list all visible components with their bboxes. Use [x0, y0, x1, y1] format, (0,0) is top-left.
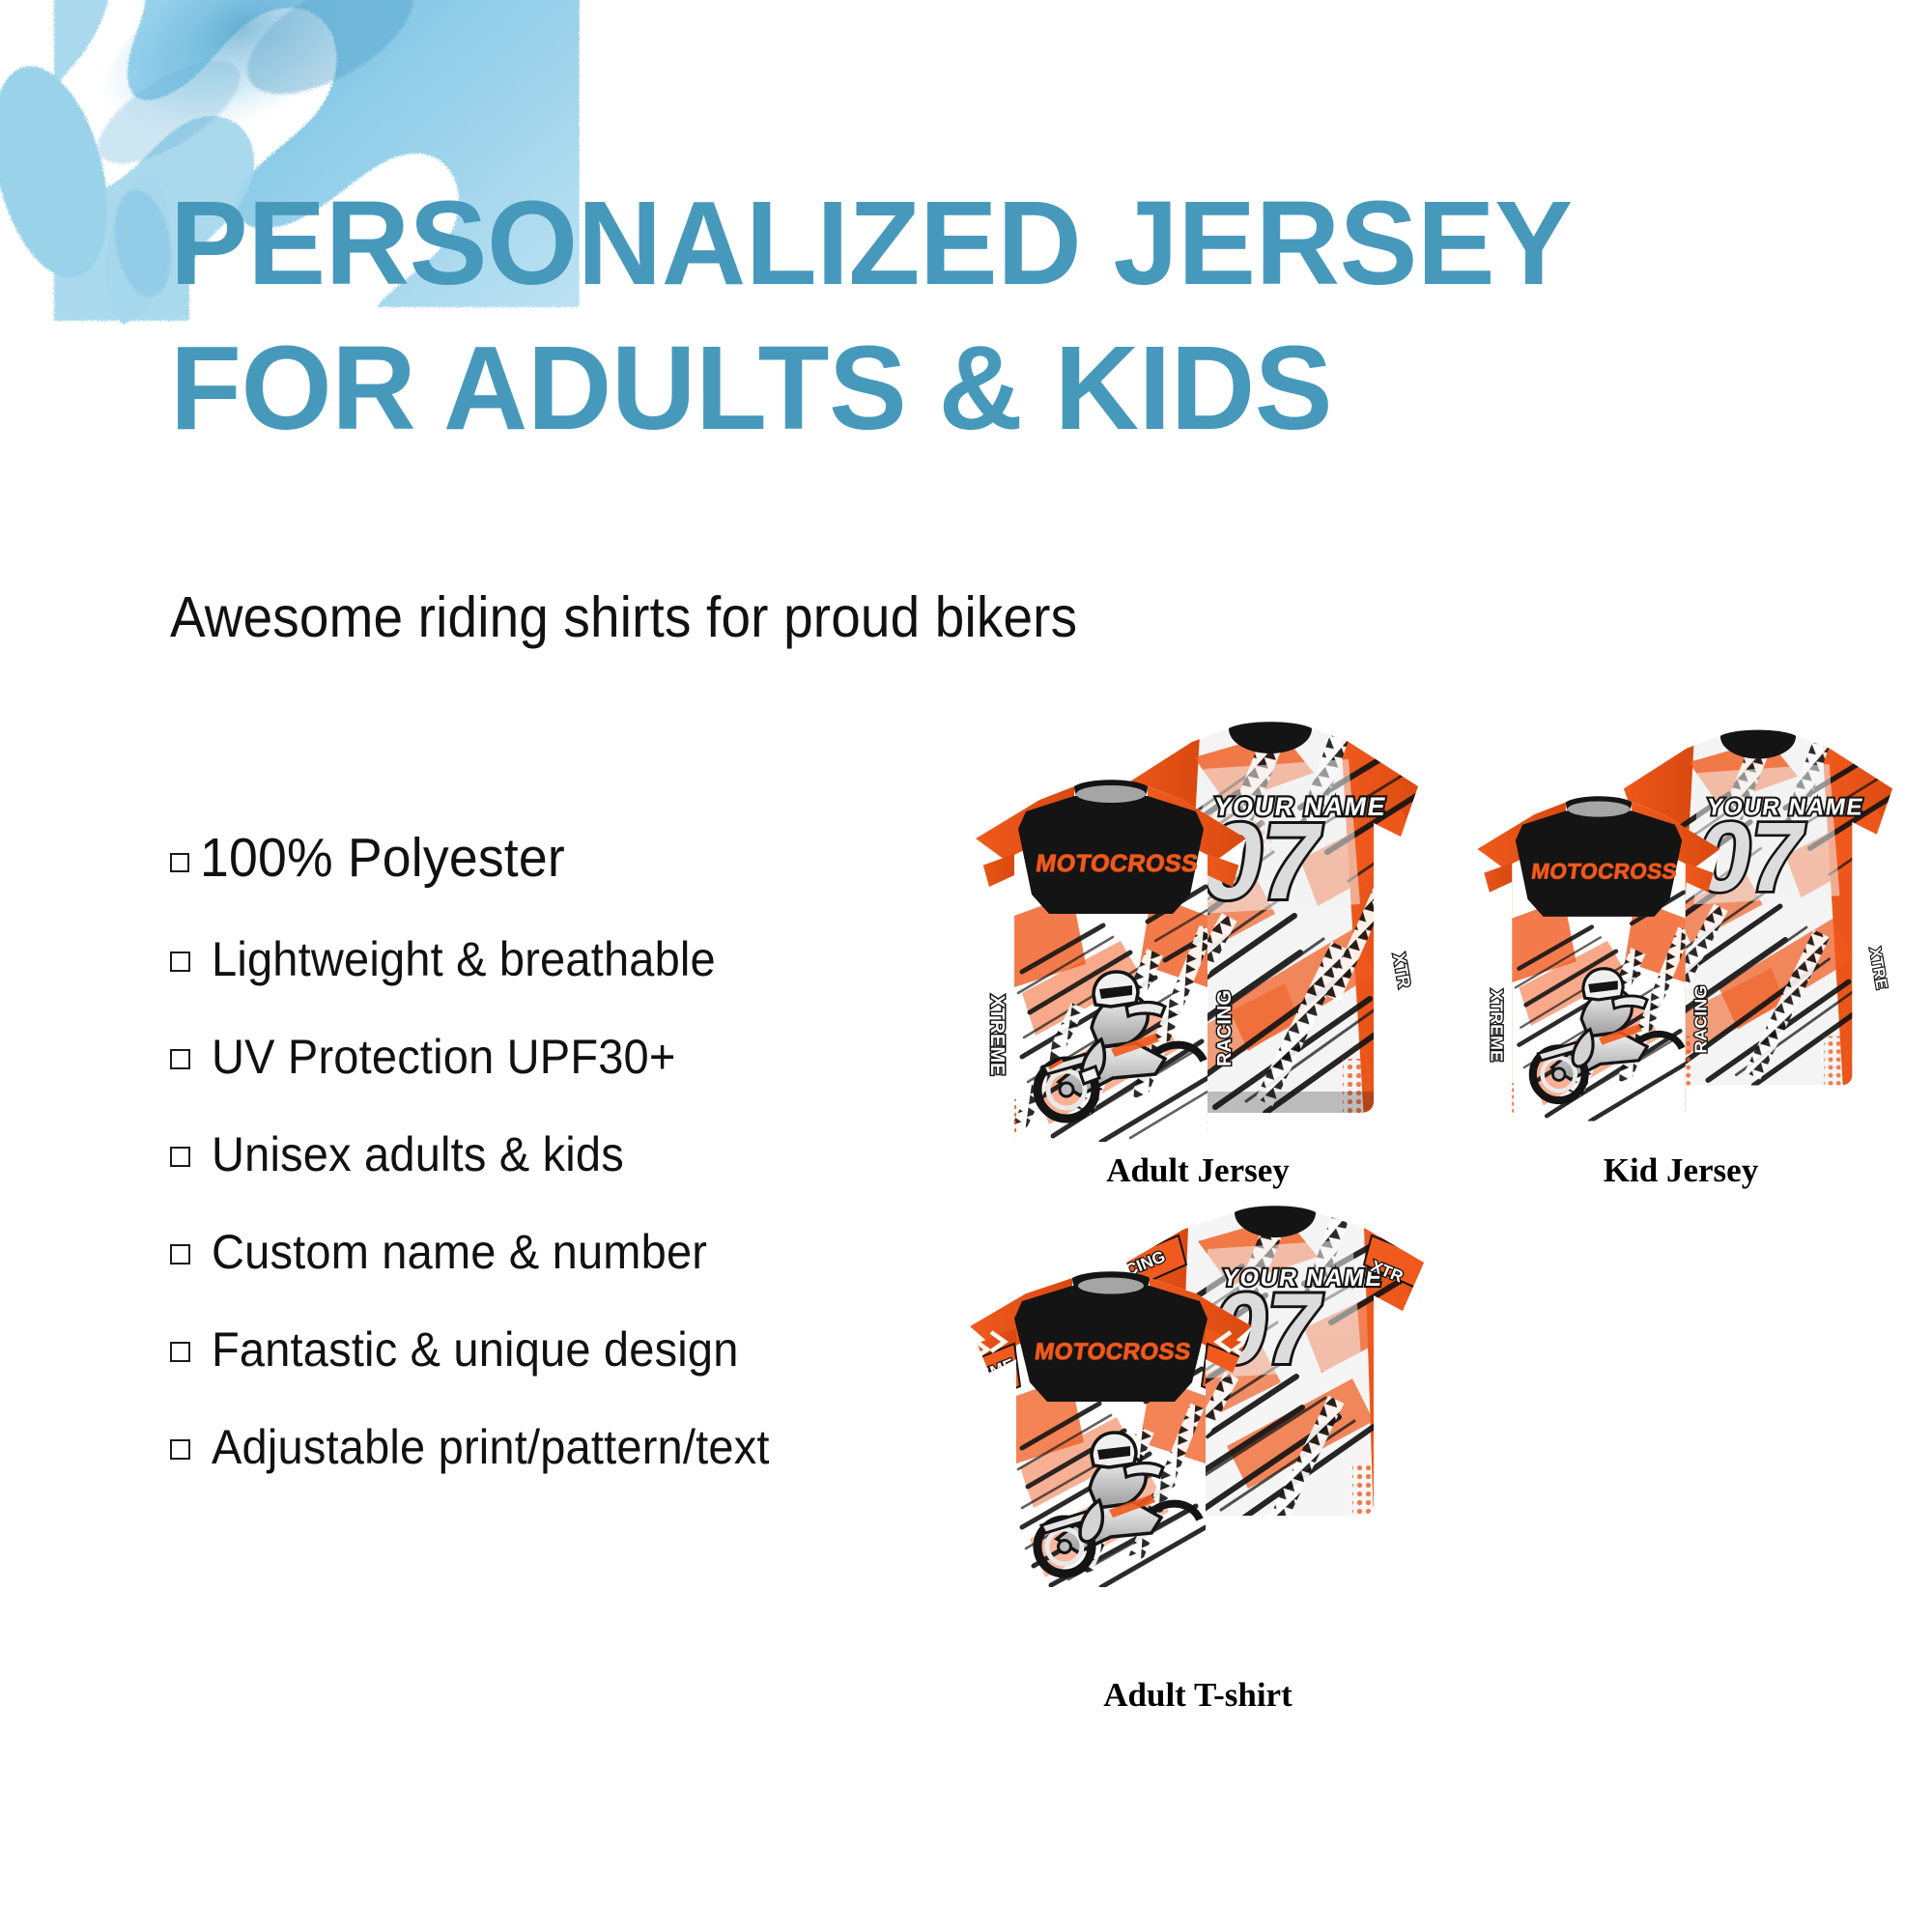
left-sleeve-text: XTREME [986, 995, 1008, 1075]
checkbox-square-icon [170, 1049, 190, 1069]
feature-item: Lightweight & breathable [170, 931, 943, 987]
chest-text: MOTOCROSS [1530, 859, 1679, 883]
page-subtitle: Awesome riding shirts for proud bikers [170, 584, 1077, 650]
product-kid-jersey[interactable]: YOUR NAME 07 XTRE [1468, 715, 1893, 1159]
chest-text: MOTOCROSS [1033, 1339, 1192, 1365]
feature-item: Adjustable print/pattern/text [170, 1419, 943, 1475]
page-title: PERSONALIZED JERSEY FOR ADULTS & KIDS [170, 185, 1387, 448]
product-caption: Adult Jersey [1106, 1151, 1290, 1190]
feature-item: Fantastic & unique design [170, 1321, 943, 1378]
left-sleeve-text: XTREME [1488, 989, 1507, 1062]
feature-item: UV Protection UPF30+ [170, 1029, 943, 1085]
product-adult-jersey[interactable]: YOUR NAME 07 XTR [966, 715, 1430, 1159]
right-sleeve-text: RACING [1214, 990, 1236, 1066]
checkbox-square-icon [170, 952, 190, 972]
checkbox-square-icon [170, 1147, 190, 1167]
feature-item: Unisex adults & kids [170, 1126, 943, 1182]
checkbox-square-icon [170, 1342, 190, 1362]
feature-item: Custom name & number [170, 1224, 943, 1280]
feature-label: Fantastic & unique design [212, 1321, 739, 1378]
checkbox-square-icon [170, 1244, 190, 1264]
product-caption: Adult T-shirt [1103, 1676, 1293, 1715]
product-caption: Kid Jersey [1604, 1151, 1758, 1190]
feature-label: Custom name & number [212, 1224, 707, 1280]
feature-label: Lightweight & breathable [212, 931, 716, 987]
feature-label: Adjustable print/pattern/text [212, 1419, 770, 1475]
chest-text: MOTOCROSS [1035, 850, 1201, 877]
product-adult-tshirt[interactable]: YOUR NAME 07 CING XTR [966, 1203, 1430, 1686]
adult-jersey-front-view: MOTOCROSS XTREME RACING [966, 771, 1256, 1148]
back-sleeve-text: XTRE [1866, 946, 1890, 990]
right-sleeve-text: RACING [1690, 985, 1710, 1054]
feature-list: 100% Polyester Lightweight & breathable … [170, 826, 943, 1475]
adult-tshirt-front-view: MOTOCROSS REME RACI [966, 1264, 1256, 1593]
headline-line-1: PERSONALIZED JERSEY [170, 185, 1369, 303]
feature-label: Unisex adults & kids [212, 1126, 624, 1182]
feature-item: 100% Polyester [170, 826, 943, 890]
headline-line-2: FOR ADULTS & KIDS [170, 330, 1369, 448]
back-sleeve-text: XTR [1389, 952, 1414, 989]
feature-label: UV Protection UPF30+ [212, 1029, 676, 1085]
product-gallery: YOUR NAME 07 XTR [966, 715, 1913, 1806]
feature-label: 100% Polyester [200, 826, 565, 890]
checkbox-square-icon [170, 1439, 190, 1460]
checkbox-square-icon [170, 853, 189, 872]
kid-jersey-front-view: MOTOCROSS XTREME RACING [1468, 788, 1729, 1126]
right-sleeve-text: RACI [1205, 1369, 1249, 1401]
